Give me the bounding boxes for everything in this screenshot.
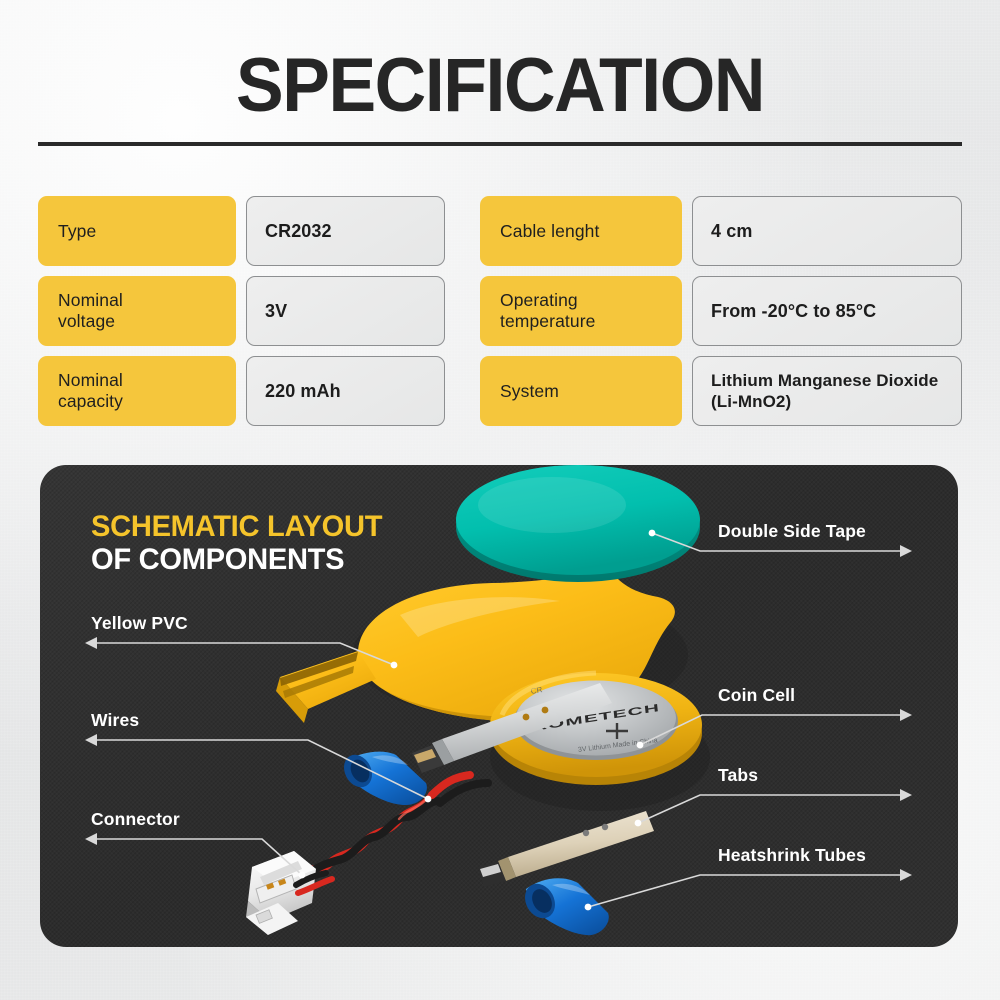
spec-value-operating-temperature: From -20°C to 85°C xyxy=(692,276,962,346)
spec-value-nominal-voltage: 3V xyxy=(246,276,445,346)
schematic-heading-line2: OF COMPONENTS xyxy=(91,543,382,576)
spec-row: Nominal voltage 3V xyxy=(38,276,445,346)
spec-value-system: Lithium Manganese Dioxide (Li-MnO2) xyxy=(692,356,962,426)
spec-row: Operating temperature From -20°C to 85°C xyxy=(480,276,962,346)
spec-value-nominal-capacity: 220 mAh xyxy=(246,356,445,426)
svg-text:3V Lithium Made in China: 3V Lithium Made in China xyxy=(578,737,659,754)
callout-label-double-side-tape: Double Side Tape xyxy=(718,521,866,541)
spec-row: Type CR2032 xyxy=(38,196,445,266)
callout-label-wires: Wires xyxy=(91,710,139,730)
page-background: SPECIFICATION Type CR2032 Nominal voltag… xyxy=(0,0,1000,1000)
spec-value-type: CR2032 xyxy=(246,196,445,266)
spec-row: System Lithium Manganese Dioxide (Li-MnO… xyxy=(480,356,962,426)
battery-brand-text: ROMETECH xyxy=(531,701,660,733)
svg-text:CR: CR xyxy=(530,685,543,696)
leader-arrowheads-right xyxy=(900,545,912,881)
spec-label-system: System xyxy=(480,356,682,426)
callout-label-connector: Connector xyxy=(91,809,180,829)
schematic-heading: SCHEMATIC LAYOUT OF COMPONENTS xyxy=(91,510,382,576)
jst-connector xyxy=(246,851,332,935)
page-title: SPECIFICATION xyxy=(30,48,970,124)
battery-polarity-mark xyxy=(606,723,628,739)
callout-label-coin-cell: Coin Cell xyxy=(718,685,795,705)
leader-endpoint-dots xyxy=(299,530,656,911)
spec-row: Cable lenght 4 cm xyxy=(480,196,962,266)
title-divider xyxy=(38,142,962,146)
heatshrink-tube-lower xyxy=(519,878,609,935)
spec-label-operating-temperature: Operating temperature xyxy=(480,276,682,346)
schematic-panel: SCHEMATIC LAYOUT OF COMPONENTS xyxy=(40,465,958,947)
wire-pair xyxy=(304,795,438,875)
callout-label-heatshrink-tubes: Heatshrink Tubes xyxy=(718,845,866,865)
tab-upper xyxy=(412,683,612,773)
spec-value-cable-length: 4 cm xyxy=(692,196,962,266)
spec-row: Nominal capacity 220 mAh xyxy=(38,356,445,426)
spec-label-nominal-capacity: Nominal capacity xyxy=(38,356,236,426)
callout-label-tabs: Tabs xyxy=(718,765,758,785)
spec-label-nominal-voltage: Nominal voltage xyxy=(38,276,236,346)
schematic-heading-line1: SCHEMATIC LAYOUT xyxy=(91,510,382,543)
heatshrink-tube-upper xyxy=(339,750,427,805)
spec-label-type: Type xyxy=(38,196,236,266)
callout-label-yellow-pvc: Yellow PVC xyxy=(91,613,188,633)
spec-label-cable-length: Cable lenght xyxy=(480,196,682,266)
tab-lower xyxy=(478,811,654,887)
